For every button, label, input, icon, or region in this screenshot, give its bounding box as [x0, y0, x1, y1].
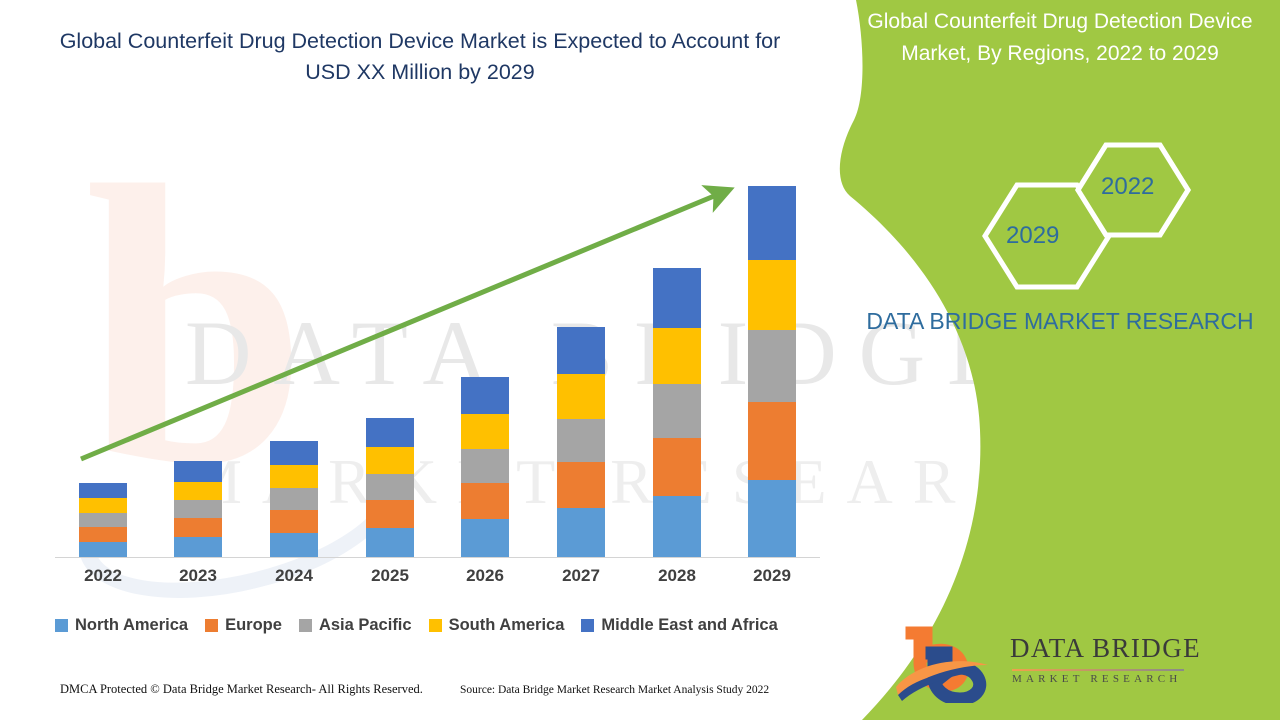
hexagon-badges: 2029 2022	[970, 140, 1210, 290]
bar-segment	[461, 377, 509, 414]
legend-item[interactable]: Asia Pacific	[299, 616, 412, 635]
bar-segment	[79, 542, 127, 558]
x-axis-label-2026: 2026	[461, 566, 509, 586]
bar-segment	[366, 418, 414, 447]
hexagon-icon	[970, 140, 1210, 290]
legend-label: Europe	[225, 616, 282, 635]
bar-segment	[270, 441, 318, 465]
bar-segment	[748, 480, 796, 558]
legend-swatch-icon	[581, 619, 594, 632]
bar-segment	[174, 500, 222, 518]
bar-column	[748, 186, 796, 558]
legend-label: Asia Pacific	[319, 616, 412, 635]
x-axis-label-2023: 2023	[174, 566, 222, 586]
legend-item[interactable]: Middle East and Africa	[581, 616, 777, 635]
legend-swatch-icon	[55, 619, 68, 632]
bar-column	[174, 461, 222, 558]
bar-segment	[748, 402, 796, 480]
x-axis-label-2025: 2025	[366, 566, 414, 586]
bar-segment	[270, 465, 318, 488]
panel-title: Global Counterfeit Drug Detection Device…	[860, 6, 1260, 69]
bar-segment	[557, 327, 605, 374]
bar-segment	[174, 518, 222, 537]
bar-segment	[557, 374, 605, 419]
data-bridge-logo: DATA BRIDGE MARKET RESEARCH	[892, 625, 1232, 703]
stacked-bar-chart	[0, 0, 860, 600]
bar-segment	[653, 384, 701, 438]
dmca-notice: DMCA Protected © Data Bridge Market Rese…	[60, 682, 423, 697]
legend-label: Middle East and Africa	[601, 616, 777, 635]
logo-wordmark: DATA BRIDGE	[1010, 633, 1201, 664]
bar-segment	[557, 508, 605, 558]
bar-segment	[366, 474, 414, 500]
bar-column	[366, 418, 414, 558]
bar-segment	[174, 461, 222, 481]
x-axis-label-2022: 2022	[79, 566, 127, 586]
bar-segment	[653, 328, 701, 384]
bar-segment	[653, 438, 701, 496]
logo-divider	[1012, 669, 1184, 671]
legend-item[interactable]: North America	[55, 616, 188, 635]
bar-segment	[79, 513, 127, 527]
bar-segment	[461, 449, 509, 483]
logo-mark-icon	[892, 625, 1002, 703]
bar-column	[653, 268, 701, 558]
hexagon-label-2029: 2029	[1006, 222, 1059, 250]
bar-segment	[270, 510, 318, 533]
green-panel-shape	[820, 0, 1280, 720]
bar-column	[461, 377, 509, 558]
chart-baseline	[55, 557, 820, 558]
footer: DMCA Protected © Data Bridge Market Rese…	[0, 682, 860, 712]
legend-item[interactable]: Europe	[205, 616, 282, 635]
bar-segment	[79, 527, 127, 542]
bar-segment	[174, 482, 222, 501]
bar-column	[557, 327, 605, 558]
bar-segment	[557, 419, 605, 462]
x-axis-label-2024: 2024	[270, 566, 318, 586]
bar-segment	[653, 268, 701, 327]
brand-panel: Global Counterfeit Drug Detection Device…	[820, 0, 1280, 720]
bar-segment	[79, 498, 127, 513]
x-axis-label-2027: 2027	[557, 566, 605, 586]
legend-swatch-icon	[205, 619, 218, 632]
bar-segment	[461, 519, 509, 558]
bar-segment	[748, 330, 796, 402]
chart-legend: North AmericaEuropeAsia PacificSouth Ame…	[55, 616, 845, 635]
legend-swatch-icon	[299, 619, 312, 632]
brand-name: DATA BRIDGE MARKET RESEARCH	[850, 305, 1270, 338]
bar-segment	[270, 488, 318, 510]
bar-segment	[366, 528, 414, 558]
x-axis-label-2028: 2028	[653, 566, 701, 586]
logo-subtitle: MARKET RESEARCH	[1012, 673, 1181, 685]
legend-swatch-icon	[429, 619, 442, 632]
x-axis-label-2029: 2029	[748, 566, 796, 586]
bar-segment	[270, 533, 318, 558]
bar-segment	[366, 447, 414, 474]
bar-segment	[653, 496, 701, 558]
chart-x-axis: 20222023202420252026202720282029	[55, 566, 820, 598]
bar-column	[270, 441, 318, 558]
legend-item[interactable]: South America	[429, 616, 565, 635]
main-content: Global Counterfeit Drug Detection Device…	[0, 0, 860, 720]
bar-segment	[461, 414, 509, 449]
bar-segment	[79, 483, 127, 499]
bar-segment	[174, 537, 222, 558]
legend-label: North America	[75, 616, 188, 635]
bar-segment	[461, 483, 509, 519]
bar-column	[79, 483, 127, 558]
legend-label: South America	[449, 616, 565, 635]
bar-segment	[557, 462, 605, 508]
hexagon-label-2022: 2022	[1101, 173, 1154, 201]
bar-segment	[748, 260, 796, 330]
chart-plot-area	[55, 150, 820, 558]
bar-segment	[366, 500, 414, 528]
bar-segment	[748, 186, 796, 260]
source-note: Source: Data Bridge Market Research Mark…	[460, 684, 769, 696]
